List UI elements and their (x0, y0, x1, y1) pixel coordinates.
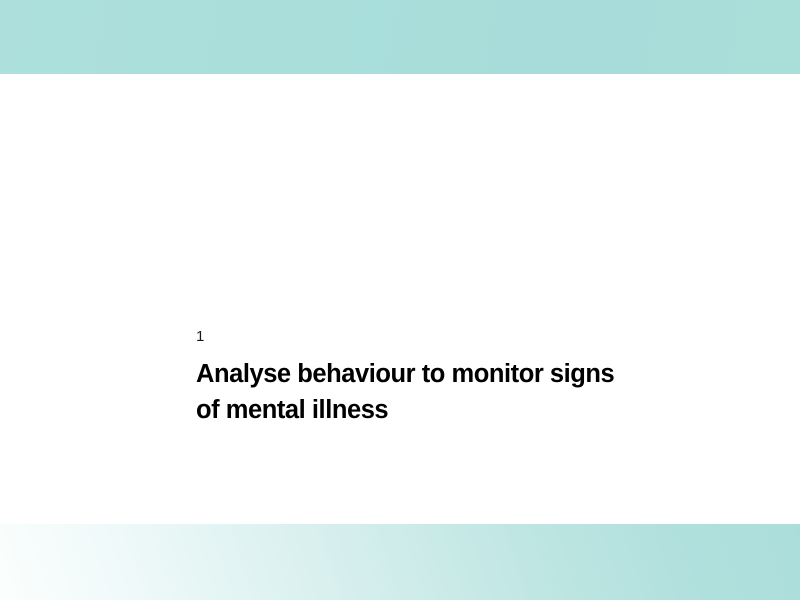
slide-stage: 1 Analyse behaviour to monitor signs of … (0, 74, 800, 524)
top-decorative-band (0, 0, 800, 74)
slide-text-block: 1 Analyse behaviour to monitor signs of … (196, 326, 666, 428)
slide-root: 1 Analyse behaviour to monitor signs of … (0, 0, 800, 600)
bottom-decorative-band (0, 524, 800, 600)
slide-number: 1 (196, 326, 666, 348)
slide-headline: Analyse behaviour to monitor signs of me… (196, 356, 666, 428)
